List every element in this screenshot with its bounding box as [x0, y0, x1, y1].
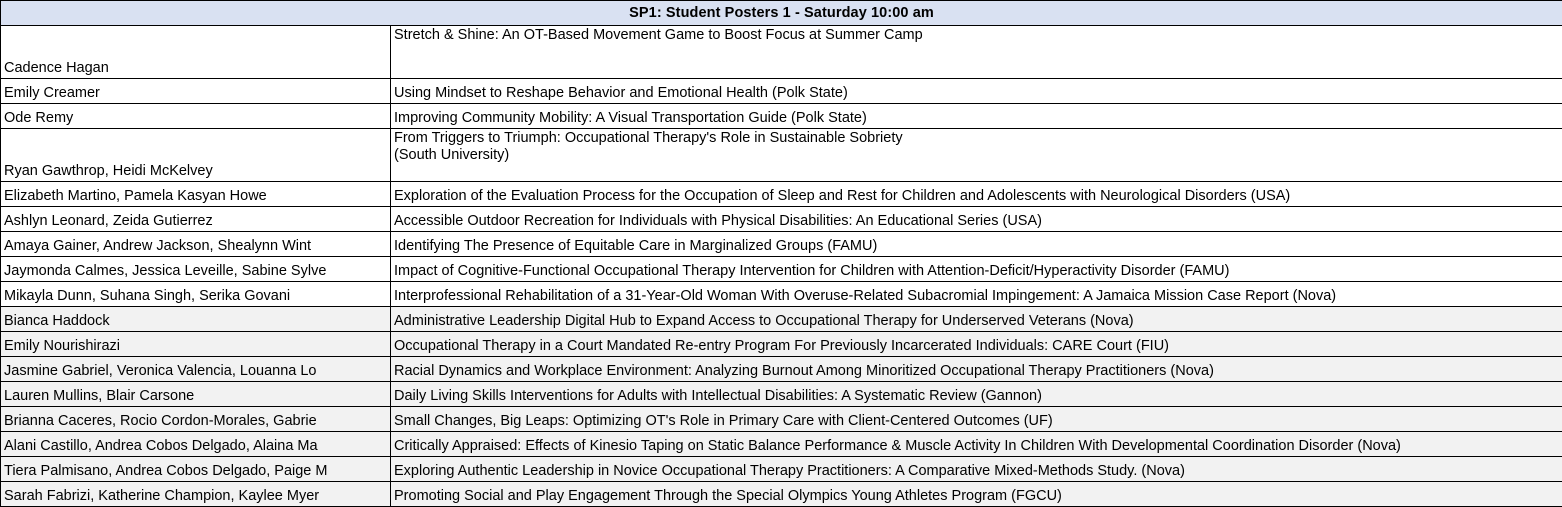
- cell-authors[interactable]: Ode Remy: [1, 104, 391, 129]
- table-row[interactable]: Lauren Mullins, Blair CarsoneDaily Livin…: [1, 382, 1562, 407]
- poster-title-text: Promoting Social and Play Engagement Thr…: [394, 488, 1560, 505]
- cell-authors[interactable]: Elizabeth Martino, Pamela Kasyan Howe: [1, 182, 391, 207]
- table-row[interactable]: Brianna Caceres, Rocio Cordon-Morales, G…: [1, 407, 1562, 432]
- cell-poster-title[interactable]: Administrative Leadership Digital Hub to…: [391, 307, 1562, 332]
- poster-title-line-2: (South University): [394, 147, 1560, 164]
- authors-text: Elizabeth Martino, Pamela Kasyan Howe: [4, 188, 388, 205]
- cell-poster-title[interactable]: Exploring Authentic Leadership in Novice…: [391, 457, 1562, 482]
- authors-text: Ode Remy: [4, 110, 388, 127]
- authors-text: Jaymonda Calmes, Jessica Leveille, Sabin…: [4, 263, 388, 280]
- cell-poster-title[interactable]: Identifying The Presence of Equitable Ca…: [391, 232, 1562, 257]
- authors-text: Tiera Palmisano, Andrea Cobos Delgado, P…: [4, 463, 388, 480]
- table-row[interactable]: Amaya Gainer, Andrew Jackson, Shealynn W…: [1, 232, 1562, 257]
- poster-title-text: Occupational Therapy in a Court Mandated…: [394, 338, 1560, 355]
- cell-poster-title[interactable]: Impact of Cognitive-Functional Occupatio…: [391, 257, 1562, 282]
- authors-text: Lauren Mullins, Blair Carsone: [4, 388, 388, 405]
- table-row[interactable]: Jasmine Gabriel, Veronica Valencia, Loua…: [1, 357, 1562, 382]
- cell-authors[interactable]: Jaymonda Calmes, Jessica Leveille, Sabin…: [1, 257, 391, 282]
- table-row[interactable]: Ode RemyImproving Community Mobility: A …: [1, 104, 1562, 129]
- session-rows-body: Cadence HaganStretch & Shine: An OT-Base…: [1, 26, 1562, 507]
- authors-text: Emily Nourishirazi: [4, 338, 388, 355]
- cell-poster-title[interactable]: Daily Living Skills Interventions for Ad…: [391, 382, 1562, 407]
- cell-authors[interactable]: Mikayla Dunn, Suhana Singh, Serika Govan…: [1, 282, 391, 307]
- authors-text: Bianca Haddock: [4, 313, 388, 330]
- table-row[interactable]: Tiera Palmisano, Andrea Cobos Delgado, P…: [1, 457, 1562, 482]
- poster-title-text: Critically Appraised: Effects of Kinesio…: [394, 438, 1560, 455]
- table-row[interactable]: Bianca HaddockAdministrative Leadership …: [1, 307, 1562, 332]
- poster-title-text: Exploration of the Evaluation Process fo…: [394, 188, 1560, 205]
- authors-text: Jasmine Gabriel, Veronica Valencia, Loua…: [4, 363, 388, 380]
- poster-title-text: Using Mindset to Reshape Behavior and Em…: [394, 85, 1560, 102]
- cell-authors[interactable]: Emily Nourishirazi: [1, 332, 391, 357]
- poster-title-line-1: From Triggers to Triumph: Occupational T…: [394, 130, 1560, 147]
- authors-text: Cadence Hagan: [4, 60, 388, 77]
- poster-title-text: Small Changes, Big Leaps: Optimizing OT'…: [394, 413, 1560, 430]
- cell-authors[interactable]: Alani Castillo, Andrea Cobos Delgado, Al…: [1, 432, 391, 457]
- cell-authors[interactable]: Ryan Gawthrop, Heidi McKelvey: [1, 129, 391, 182]
- poster-title-text: Identifying The Presence of Equitable Ca…: [394, 238, 1560, 255]
- poster-title-text: Accessible Outdoor Recreation for Indivi…: [394, 213, 1560, 230]
- poster-title-text: Interprofessional Rehabilitation of a 31…: [394, 288, 1560, 305]
- cell-authors[interactable]: Ashlyn Leonard, Zeida Gutierrez: [1, 207, 391, 232]
- cell-authors[interactable]: Tiera Palmisano, Andrea Cobos Delgado, P…: [1, 457, 391, 482]
- cell-poster-title[interactable]: From Triggers to Triumph: Occupational T…: [391, 129, 1562, 182]
- spreadsheet-sheet: SP1: Student Posters 1 - Saturday 10:00 …: [0, 0, 1562, 507]
- cell-poster-title[interactable]: Using Mindset to Reshape Behavior and Em…: [391, 79, 1562, 104]
- authors-text: Emily Creamer: [4, 85, 388, 102]
- table-row[interactable]: Ryan Gawthrop, Heidi McKelveyFrom Trigge…: [1, 129, 1562, 182]
- cell-poster-title[interactable]: Interprofessional Rehabilitation of a 31…: [391, 282, 1562, 307]
- table-row[interactable]: Ashlyn Leonard, Zeida GutierrezAccessibl…: [1, 207, 1562, 232]
- authors-text: Ryan Gawthrop, Heidi McKelvey: [4, 163, 388, 180]
- cell-poster-title[interactable]: Improving Community Mobility: A Visual T…: [391, 104, 1562, 129]
- poster-title-line-1: Stretch & Shine: An OT-Based Movement Ga…: [394, 27, 1560, 44]
- cell-authors[interactable]: Lauren Mullins, Blair Carsone: [1, 382, 391, 407]
- table-row[interactable]: Emily NourishiraziOccupational Therapy i…: [1, 332, 1562, 357]
- cell-poster-title[interactable]: Accessible Outdoor Recreation for Indivi…: [391, 207, 1562, 232]
- authors-text: Sarah Fabrizi, Katherine Champion, Kayle…: [4, 488, 388, 505]
- session-schedule-table: SP1: Student Posters 1 - Saturday 10:00 …: [0, 0, 1562, 507]
- cell-authors[interactable]: Bianca Haddock: [1, 307, 391, 332]
- session-header-title: SP1: Student Posters 1 - Saturday 10:00 …: [1, 1, 1562, 26]
- poster-title-text: Impact of Cognitive-Functional Occupatio…: [394, 263, 1560, 280]
- session-header-row: SP1: Student Posters 1 - Saturday 10:00 …: [1, 1, 1562, 26]
- cell-authors[interactable]: Jasmine Gabriel, Veronica Valencia, Loua…: [1, 357, 391, 382]
- cell-poster-title[interactable]: Occupational Therapy in a Court Mandated…: [391, 332, 1562, 357]
- poster-title-text: Exploring Authentic Leadership in Novice…: [394, 463, 1560, 480]
- authors-text: Amaya Gainer, Andrew Jackson, Shealynn W…: [4, 238, 388, 255]
- cell-poster-title[interactable]: Stretch & Shine: An OT-Based Movement Ga…: [391, 26, 1562, 79]
- cell-authors[interactable]: Cadence Hagan: [1, 26, 391, 79]
- poster-title-text: Daily Living Skills Interventions for Ad…: [394, 388, 1560, 405]
- table-row[interactable]: Jaymonda Calmes, Jessica Leveille, Sabin…: [1, 257, 1562, 282]
- authors-text: Brianna Caceres, Rocio Cordon-Morales, G…: [4, 413, 388, 430]
- table-row[interactable]: Alani Castillo, Andrea Cobos Delgado, Al…: [1, 432, 1562, 457]
- table-row[interactable]: Mikayla Dunn, Suhana Singh, Serika Govan…: [1, 282, 1562, 307]
- poster-title-text: Administrative Leadership Digital Hub to…: [394, 313, 1560, 330]
- cell-poster-title[interactable]: Exploration of the Evaluation Process fo…: [391, 182, 1562, 207]
- authors-text: Alani Castillo, Andrea Cobos Delgado, Al…: [4, 438, 388, 455]
- poster-title-text: Improving Community Mobility: A Visual T…: [394, 110, 1560, 127]
- table-row[interactable]: Elizabeth Martino, Pamela Kasyan HoweExp…: [1, 182, 1562, 207]
- poster-title-text: Racial Dynamics and Workplace Environmen…: [394, 363, 1560, 380]
- cell-authors[interactable]: Amaya Gainer, Andrew Jackson, Shealynn W…: [1, 232, 391, 257]
- authors-text: Mikayla Dunn, Suhana Singh, Serika Govan…: [4, 288, 388, 305]
- cell-poster-title[interactable]: Critically Appraised: Effects of Kinesio…: [391, 432, 1562, 457]
- authors-text: Ashlyn Leonard, Zeida Gutierrez: [4, 213, 388, 230]
- cell-authors[interactable]: Emily Creamer: [1, 79, 391, 104]
- cell-poster-title[interactable]: Racial Dynamics and Workplace Environmen…: [391, 357, 1562, 382]
- cell-poster-title[interactable]: Small Changes, Big Leaps: Optimizing OT'…: [391, 407, 1562, 432]
- table-row[interactable]: Cadence HaganStretch & Shine: An OT-Base…: [1, 26, 1562, 79]
- cell-authors[interactable]: Brianna Caceres, Rocio Cordon-Morales, G…: [1, 407, 391, 432]
- table-row[interactable]: Emily CreamerUsing Mindset to Reshape Be…: [1, 79, 1562, 104]
